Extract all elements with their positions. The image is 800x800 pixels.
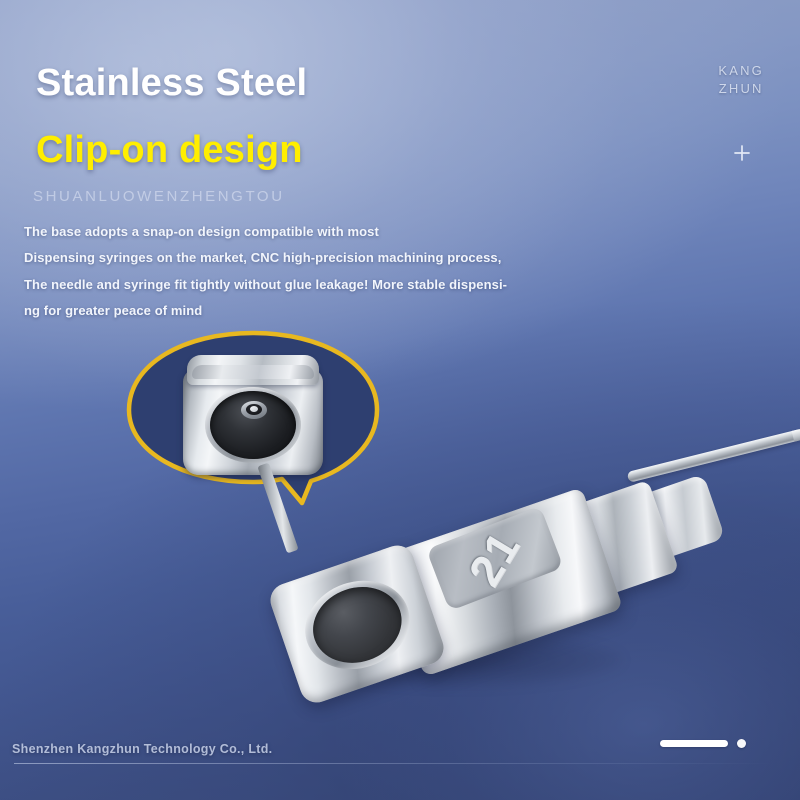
brand-logo: KANG ZHUN xyxy=(718,62,764,99)
page-title: Stainless Steel xyxy=(36,62,307,105)
hub-band xyxy=(257,463,298,554)
pagination-indicator-active[interactable] xyxy=(660,740,728,747)
needle-tip xyxy=(792,428,800,442)
gauge-label: 21 xyxy=(459,522,531,595)
pinyin-caption: SHUANLUOWENZHENGTOU xyxy=(33,188,285,205)
stainless-steel-dispensing-needle: 21 xyxy=(276,444,796,714)
description-block: The base adopts a snap-on design compati… xyxy=(24,224,584,320)
plus-icon[interactable] xyxy=(730,141,754,165)
gauge-facet: 21 xyxy=(426,506,564,611)
base-cap-inner xyxy=(192,365,314,379)
company-name: Shenzhen Kangzhun Technology Co., Ltd. xyxy=(12,742,272,756)
footer-divider xyxy=(14,763,774,764)
base-port-highlight xyxy=(250,406,258,412)
slide-pagination[interactable] xyxy=(660,739,746,748)
description-line-4: ng for greater peace of mind xyxy=(24,303,584,319)
brand-line-2: ZHUN xyxy=(718,80,764,98)
description-line-3: The needle and syringe fit tightly witho… xyxy=(24,277,584,293)
description-line-1: The base adopts a snap-on design compati… xyxy=(24,224,584,240)
description-line-2: Dispensing syringes on the market, CNC h… xyxy=(24,250,584,266)
brand-line-1: KANG xyxy=(718,62,764,80)
pagination-indicator-2[interactable] xyxy=(737,739,746,748)
page-subtitle: Clip-on design xyxy=(36,129,303,172)
slide-canvas: KANG ZHUN Stainless Steel Clip-on design… xyxy=(0,0,800,800)
needle-cannula xyxy=(627,428,800,483)
